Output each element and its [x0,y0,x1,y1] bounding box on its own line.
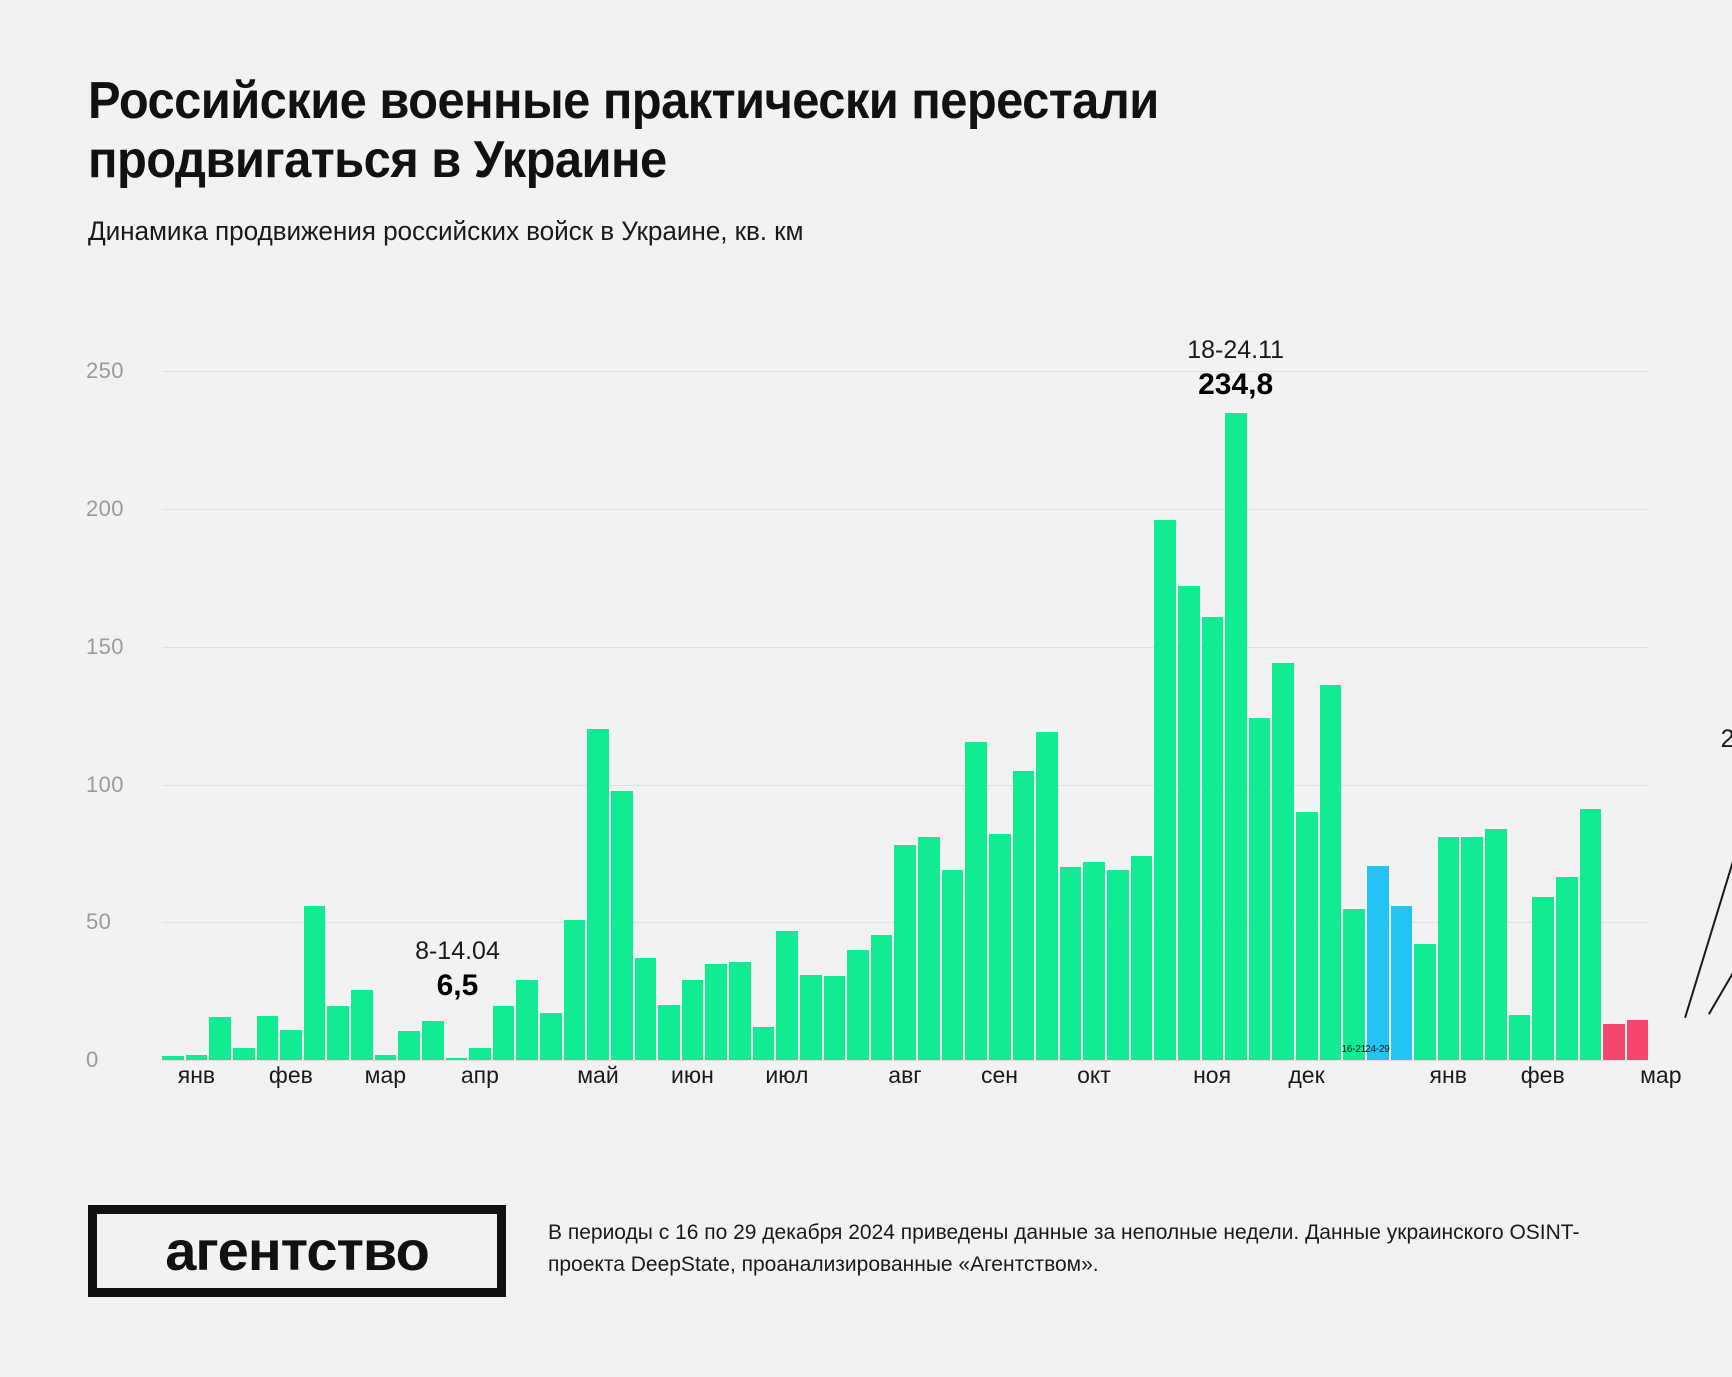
x-axis-month-label: июл [765,1062,808,1089]
bar [304,906,326,1060]
bar [540,1013,562,1060]
y-axis-tick-label: 200 [86,496,150,522]
y-axis-tick-label: 100 [86,772,150,798]
bar [1272,663,1294,1060]
bar [800,975,822,1060]
x-axis-month-label: авг [888,1062,921,1089]
bar [1343,909,1365,1061]
x-axis-month-label: янв [1430,1062,1467,1089]
bar [1509,1015,1531,1060]
bar [1391,906,1413,1060]
x-axis-month-label: фев [269,1062,313,1089]
bar [564,920,586,1060]
bar [871,935,893,1060]
bar [847,950,869,1060]
bar [1532,897,1554,1060]
bar [753,1027,775,1060]
x-axis-month-label: янв [178,1062,215,1089]
bar [918,837,940,1060]
bar [1060,867,1082,1060]
bar [422,1021,444,1060]
x-axis-month-label: май [577,1062,618,1089]
bar [351,990,373,1060]
x-axis-partial-week-label: 24-29 [1365,1044,1390,1055]
bar [635,958,657,1060]
page-title: Российские военные практически перестали… [88,72,1554,190]
bar [1485,829,1507,1060]
y-axis-tick-label: 250 [86,358,150,384]
bar [1202,617,1224,1061]
bar [1154,520,1176,1060]
bar [209,1017,231,1060]
logo-text: агентство [165,1223,429,1279]
bar [1556,877,1578,1060]
bar-series [162,330,1648,1060]
annotation-leader-line [1708,877,1732,1015]
bar [398,1031,420,1060]
bar [1438,837,1460,1060]
header: Российские военные практически перестали… [88,72,1648,247]
bar [257,1016,279,1060]
y-axis-tick-label: 50 [86,909,150,935]
y-axis-tick-label: 0 [86,1047,150,1073]
x-axis-partial-week-label: 16-21 [1341,1044,1366,1055]
bar [1603,1024,1625,1060]
bar [1249,718,1271,1060]
x-axis-month-label: ноя [1193,1062,1231,1089]
bar [705,964,727,1060]
bar [989,834,1011,1060]
bar [1131,856,1153,1060]
bar [1225,413,1247,1060]
x-axis-month-label: окт [1077,1062,1111,1089]
plot-area: 250200150100500 18-24.11234,88-14.046,52… [162,330,1648,1060]
infographic-page: Российские военные практически перестали… [0,0,1732,1377]
bar [1461,837,1483,1060]
bar [1036,732,1058,1060]
bar [611,791,633,1060]
bar [516,980,538,1060]
bar [493,1006,515,1060]
bar [776,931,798,1060]
bar [682,980,704,1060]
bar [327,1006,349,1060]
agentstvo-logo: агентство [88,1205,506,1297]
annotation-leader-line [1684,796,1732,1019]
x-axis-month-label: сен [981,1062,1018,1089]
bar [658,1005,680,1060]
bar [894,845,916,1060]
bar [469,1048,491,1060]
bar [942,870,964,1060]
bar [1013,771,1035,1060]
bar [1107,870,1129,1060]
bar [1627,1020,1649,1060]
annotation-value: 12,9 [1721,755,1732,792]
x-axis-month-label: мар [365,1062,406,1089]
x-axis-month-label: дек [1288,1062,1324,1089]
bar [233,1048,255,1060]
bar [729,962,751,1060]
bar [587,729,609,1060]
source-caption: В периоды с 16 по 29 декабря 2024 привед… [548,1217,1648,1281]
x-axis-month-label: фев [1521,1062,1565,1089]
bar-chart: 250200150100500 18-24.11234,88-14.046,52… [88,330,1648,1090]
bar [1296,812,1318,1060]
x-axis-month-label: июн [671,1062,714,1089]
data-annotation: 24.02-2.0312,9 [1721,724,1732,792]
x-axis: янвфевмарапрмайиюниюлавгсеноктноядекянвф… [162,1060,1648,1090]
bar [1178,586,1200,1060]
bar [1414,944,1436,1060]
x-axis-month-label: апр [461,1062,499,1089]
annotation-date: 24.02-2.03 [1721,724,1732,755]
page-subtitle: Динамика продвижения российских войск в … [88,216,1601,247]
bar [1367,866,1389,1060]
bar [1083,862,1105,1060]
bar [965,742,987,1060]
bar [280,1030,302,1060]
bar [824,976,846,1060]
x-axis-month-label: мар [1640,1062,1681,1089]
y-axis-tick-label: 150 [86,634,150,660]
bar [1320,685,1342,1060]
bar [1580,809,1602,1060]
